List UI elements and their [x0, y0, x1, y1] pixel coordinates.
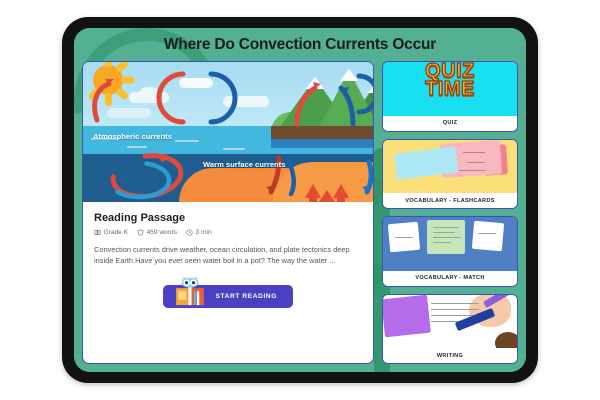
text-line [433, 227, 459, 228]
reading-metadata-row: Grade K 459 words [94, 229, 362, 236]
paper-line [431, 303, 479, 304]
paper-line [431, 309, 479, 310]
meta-duration-text: 3 min [196, 229, 212, 236]
activity-label-quiz: QUIZ [383, 116, 517, 131]
page-title: Where Do Convection Currents Occur [164, 36, 436, 54]
meta-word-count: 459 words [137, 229, 177, 236]
text-line [433, 232, 455, 233]
squiggle-line [459, 170, 485, 171]
meta-word-count-text: 459 words [147, 229, 177, 236]
clock-icon [186, 229, 193, 236]
activity-label-writing: WRITING [383, 348, 517, 363]
tablet-device-frame: Where Do Convection Currents Occur [62, 17, 538, 383]
coffee-cup-icon [495, 332, 517, 348]
activity-card-quiz[interactable]: QUIZ TIME QUIZ [382, 61, 518, 132]
start-reading-label: START READING [215, 293, 277, 300]
quiz-thumb-word-two: TIME [383, 78, 517, 101]
reading-passage-card[interactable]: Atmospheric currents Warm surface curren… [82, 61, 374, 364]
activity-label-match: VOCABULARY - MATCH [383, 271, 517, 286]
text-line [478, 233, 496, 234]
start-reading-button[interactable]: START READING [163, 285, 293, 308]
activity-rail: QUIZ TIME QUIZ VOCABULARY - FLASHCARDS [382, 61, 518, 364]
meta-grade-text: Grade K [104, 229, 129, 236]
squiggle-line [463, 152, 485, 153]
badge-icon [137, 229, 144, 236]
activity-card-writing[interactable]: WRITING [382, 294, 518, 365]
content-area: Atmospheric currents Warm surface curren… [74, 61, 526, 372]
text-line [433, 242, 451, 243]
page-header: Where Do Convection Currents Occur [74, 28, 526, 61]
activity-label-flashcards: VOCABULARY - FLASHCARDS [383, 193, 517, 208]
activity-card-match[interactable]: VOCABULARY - MATCH [382, 216, 518, 287]
flashcards-thumbnail [383, 140, 517, 194]
text-line [433, 237, 461, 238]
convection-currents-illustration: Atmospheric currents Warm surface curren… [83, 62, 373, 202]
notebook-shape [383, 295, 431, 337]
label-warm-surface-currents: Warm surface currents [203, 160, 285, 169]
match-thumbnail [383, 217, 517, 271]
meta-grade: Grade K [94, 229, 128, 236]
reading-passage-heading: Reading Passage [94, 212, 362, 224]
reading-card-body: Reading Passage Grade K [83, 202, 373, 363]
writing-thumbnail [383, 295, 517, 349]
label-atmospheric-currents: Atmospheric currents [93, 132, 172, 141]
book-icon [94, 229, 101, 236]
start-reading-row: START READING [94, 267, 362, 308]
activity-card-flashcards[interactable]: VOCABULARY - FLASHCARDS [382, 139, 518, 210]
meta-duration: 3 min [186, 229, 212, 236]
reading-passage-excerpt: Convection currents drive weather, ocean… [94, 244, 362, 267]
paper-shape [472, 221, 504, 252]
tablet-screen: Where Do Convection Currents Occur [74, 28, 526, 372]
text-line [395, 237, 413, 238]
squiggle-line [467, 162, 485, 163]
open-book-mascot-icon [173, 277, 207, 307]
quiz-thumbnail: QUIZ TIME [383, 62, 517, 116]
